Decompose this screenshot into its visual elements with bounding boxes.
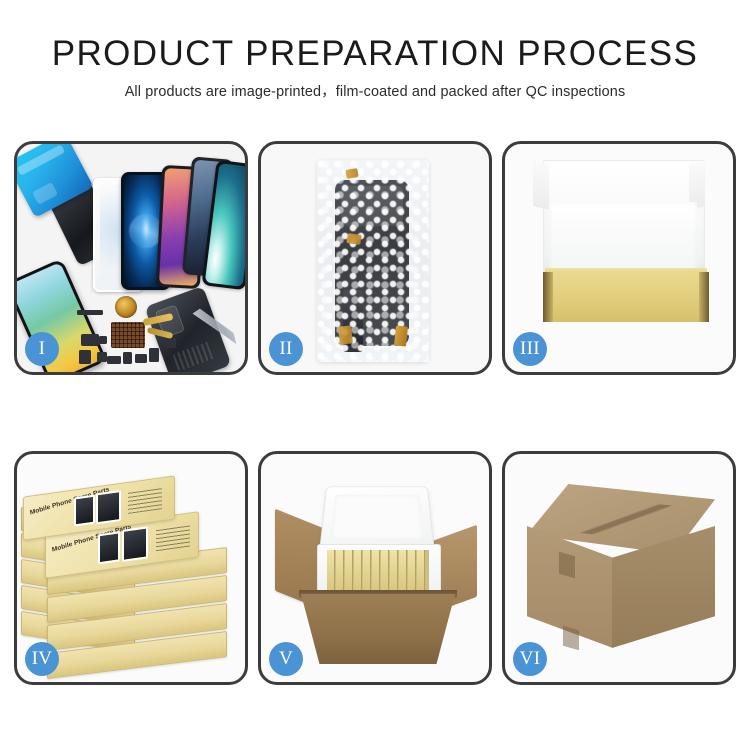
process-step-panel-2: II xyxy=(258,141,492,375)
box-window-thumb xyxy=(96,490,121,525)
process-step-panel-4: Mobile Phone Spare Parts Mobile Phone Sp… xyxy=(14,451,248,685)
white-foam-sheet xyxy=(549,202,697,274)
product-preparation-process-page: PRODUCT PREPARATION PROCESS All products… xyxy=(0,0,750,750)
bubble-wrap-bag xyxy=(317,160,429,362)
tape-piece-2 xyxy=(346,233,361,245)
small-parts-cluster xyxy=(77,294,187,372)
box-window-thumb xyxy=(98,531,120,564)
carton-tape-lower xyxy=(563,626,579,651)
process-step-panel-5: V xyxy=(258,451,492,685)
speaker-coil xyxy=(115,296,137,318)
process-step-panel-6: VI xyxy=(502,451,736,685)
step-badge-2: II xyxy=(269,332,303,366)
tape-piece-3 xyxy=(338,325,353,344)
page-subtitle: All products are image-printed，film-coat… xyxy=(0,83,750,101)
box-window-thumb xyxy=(74,495,95,527)
step-badge-1: I xyxy=(25,332,59,366)
step-badge-6: VI xyxy=(513,642,547,676)
box-flap-left xyxy=(533,160,549,210)
yellow-box-front xyxy=(543,272,709,322)
page-header: PRODUCT PREPARATION PROCESS All products… xyxy=(0,34,750,101)
box-window-thumb xyxy=(122,526,148,562)
carton-tape-upper xyxy=(559,552,575,579)
step-badge-4: IV xyxy=(25,642,59,676)
step-badge-3: III xyxy=(513,332,547,366)
box-spec-lines xyxy=(128,486,162,514)
tape-piece-4 xyxy=(394,325,408,346)
ic-chip xyxy=(111,322,145,348)
bubble-texture-layer-2 xyxy=(317,160,429,362)
foam-box-lid xyxy=(319,486,434,549)
process-step-panel-1: I xyxy=(14,141,248,375)
flex-cable-2 xyxy=(147,327,174,339)
carton-body xyxy=(301,594,455,664)
yellow-boxes-inside xyxy=(327,550,429,592)
process-step-grid: I II xyxy=(14,141,736,685)
box-spec-lines xyxy=(156,522,190,551)
step-badge-5: V xyxy=(269,642,303,676)
page-title: PRODUCT PREPARATION PROCESS xyxy=(0,34,750,74)
process-step-panel-3: III xyxy=(502,141,736,375)
flex-cable-1 xyxy=(143,313,174,326)
